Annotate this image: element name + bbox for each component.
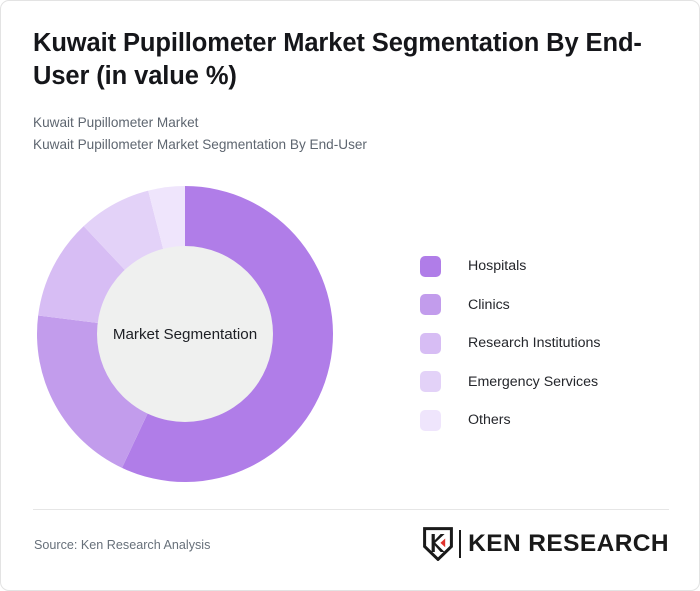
legend-swatch <box>420 410 441 431</box>
legend-item[interactable]: Emergency Services <box>420 363 600 402</box>
donut-hole <box>97 246 273 422</box>
legend-swatch <box>420 333 441 354</box>
legend-swatch <box>420 371 441 392</box>
donut-svg <box>37 186 333 482</box>
chart-card: Kuwait Pupillometer Market Segmentation … <box>0 0 700 591</box>
subtitle-segmentation: Kuwait Pupillometer Market Segmentation … <box>33 134 653 156</box>
legend-label: Clinics <box>468 297 510 313</box>
legend-label: Others <box>468 412 511 428</box>
ken-research-shield-k-icon <box>423 527 453 561</box>
legend-item[interactable]: Research Institutions <box>420 324 600 363</box>
brand-divider <box>459 530 461 558</box>
chart-header: Kuwait Pupillometer Market Segmentation … <box>33 27 653 156</box>
legend-swatch <box>420 294 441 315</box>
legend-label: Emergency Services <box>468 374 598 390</box>
source-note: Source: Ken Research Analysis <box>34 538 210 552</box>
legend-label: Research Institutions <box>468 335 600 351</box>
page-title: Kuwait Pupillometer Market Segmentation … <box>33 27 653 93</box>
chart-legend: HospitalsClinicsResearch InstitutionsEme… <box>420 247 600 440</box>
chart-plot-area: Market Segmentation HospitalsClinicsRese… <box>1 169 700 499</box>
legend-item[interactable]: Clinics <box>420 286 600 325</box>
legend-item[interactable]: Hospitals <box>420 247 600 286</box>
subtitle-group: Kuwait Pupillometer Market Kuwait Pupill… <box>33 112 653 156</box>
legend-label: Hospitals <box>468 258 526 274</box>
legend-item[interactable]: Others <box>420 401 600 440</box>
brand-logo: KEN RESEARCH <box>423 527 669 561</box>
brand-name: KEN RESEARCH <box>468 532 669 557</box>
donut-chart: Market Segmentation <box>37 186 333 482</box>
subtitle-market: Kuwait Pupillometer Market <box>33 112 653 134</box>
footer-divider <box>33 509 669 510</box>
legend-swatch <box>420 256 441 277</box>
